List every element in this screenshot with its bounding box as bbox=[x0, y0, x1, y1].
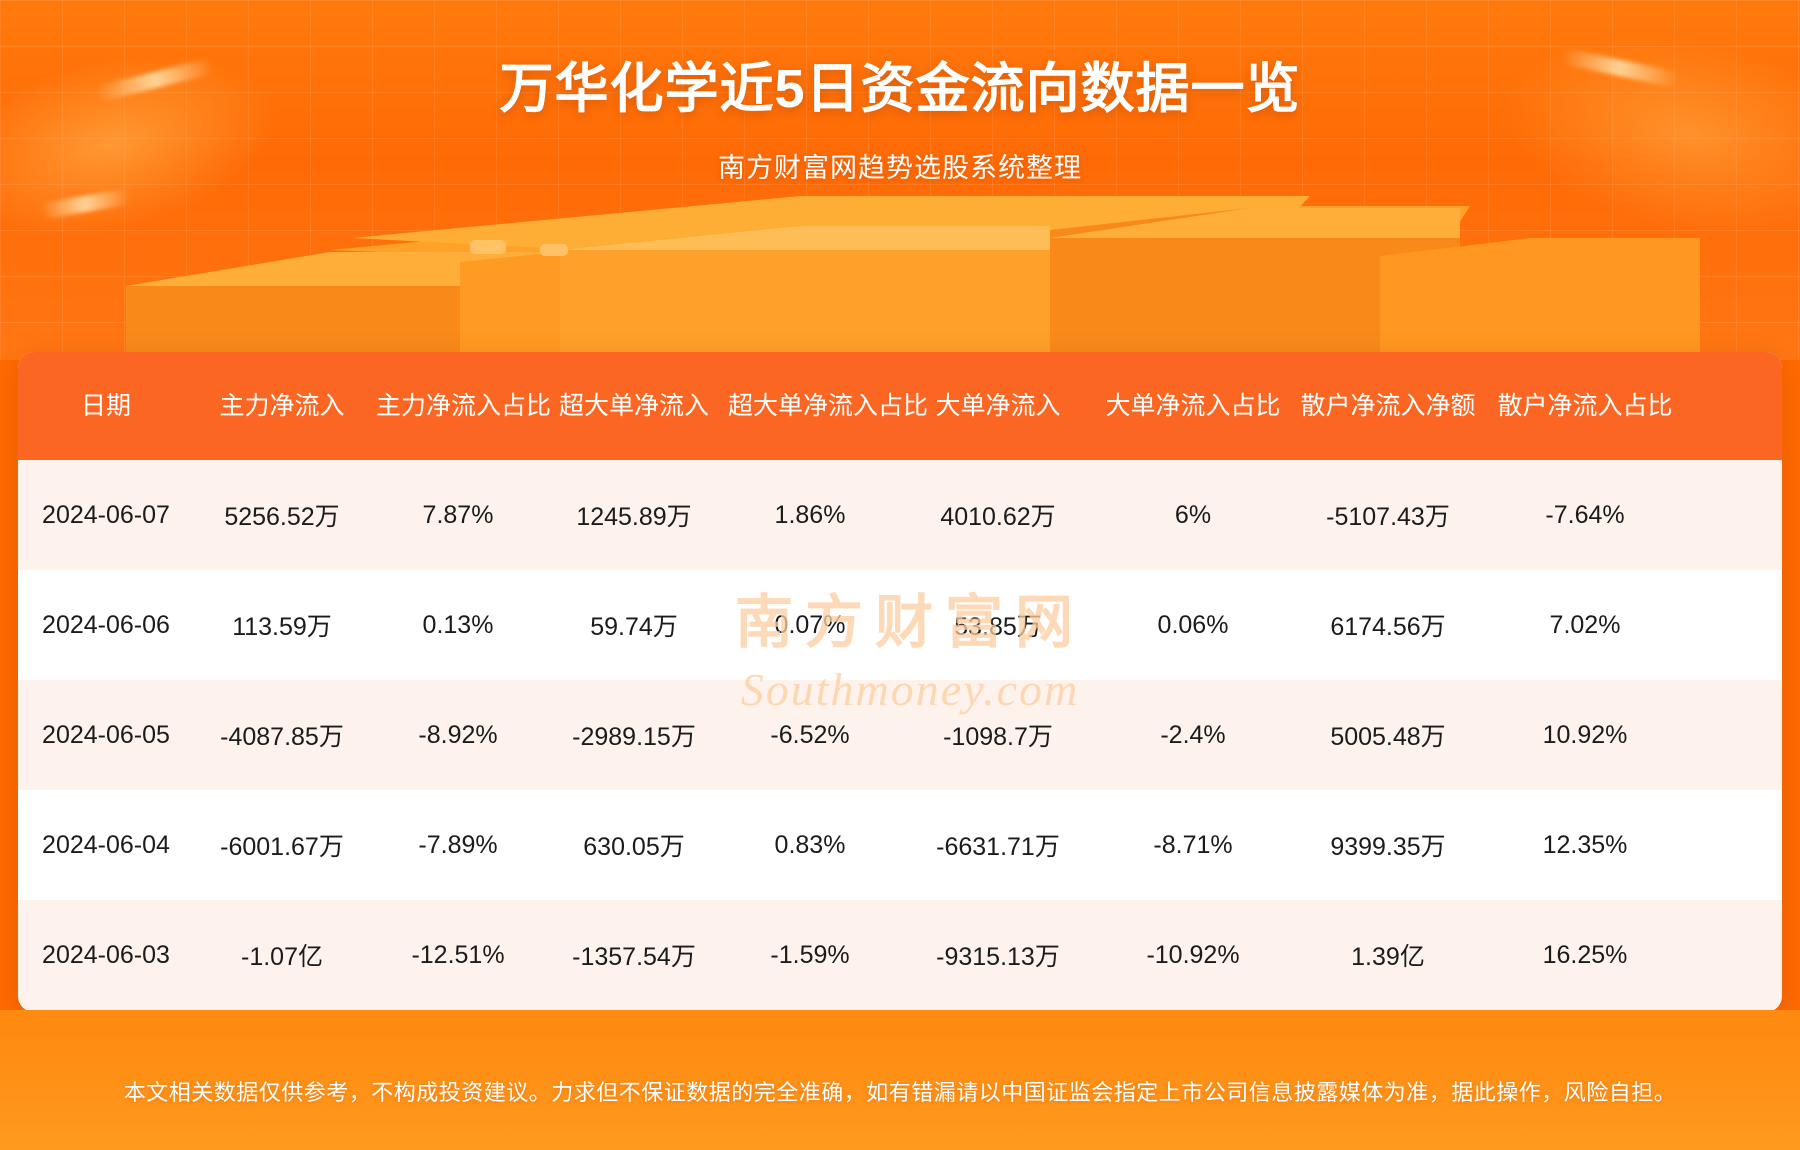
cell-retail-net: 1.39亿 bbox=[1288, 937, 1488, 973]
page-subtitle: 南方财富网趋势选股系统整理 bbox=[0, 146, 1800, 185]
cell-date: 2024-06-06 bbox=[18, 611, 194, 640]
podium-graphic bbox=[0, 190, 1800, 360]
cell-retail-pct: 12.35% bbox=[1488, 831, 1682, 860]
column-header-retail-pct: 散户净流入占比 bbox=[1488, 392, 1682, 421]
cell-retail-pct: 16.25% bbox=[1488, 941, 1682, 970]
cell-main-pct: -12.51% bbox=[370, 941, 546, 970]
cell-lg-pct: 6% bbox=[1098, 501, 1288, 530]
cell-main-pct: -8.92% bbox=[370, 721, 546, 750]
cell-main-net: 5256.52万 bbox=[194, 497, 370, 533]
column-header-date: 日期 bbox=[18, 392, 194, 421]
cell-lg-pct: 0.06% bbox=[1098, 611, 1288, 640]
cell-lg-net: 4010.62万 bbox=[898, 497, 1098, 533]
cell-lg-pct: -10.92% bbox=[1098, 941, 1288, 970]
cell-lg-net: -6631.71万 bbox=[898, 827, 1098, 863]
cell-main-pct: 0.13% bbox=[370, 611, 546, 640]
cell-date: 2024-06-04 bbox=[18, 831, 194, 860]
cell-main-pct: -7.89% bbox=[370, 831, 546, 860]
data-table-card: 日期 主力净流入 主力净流入占比 超大单净流入 超大单净流入占比 大单净流入 大… bbox=[18, 352, 1782, 1012]
cell-main-net: 113.59万 bbox=[194, 607, 370, 643]
cell-xl-pct: 0.07% bbox=[722, 611, 898, 640]
cell-lg-pct: -2.4% bbox=[1098, 721, 1288, 750]
table-header-row: 日期 主力净流入 主力净流入占比 超大单净流入 超大单净流入占比 大单净流入 大… bbox=[18, 352, 1782, 460]
disclaimer-text: 本文相关数据仅供参考，不构成投资建议。力求但不保证数据的完全准确，如有错漏请以中… bbox=[124, 1075, 1677, 1107]
page-title: 万华化学近5日资金流向数据一览 bbox=[0, 44, 1800, 123]
cell-xl-pct: -6.52% bbox=[722, 721, 898, 750]
cell-lg-net: 53.85万 bbox=[898, 607, 1098, 643]
cell-retail-net: 5005.48万 bbox=[1288, 717, 1488, 753]
cell-lg-net: -1098.7万 bbox=[898, 717, 1098, 753]
cell-xl-pct: 1.86% bbox=[722, 501, 898, 530]
cell-date: 2024-06-03 bbox=[18, 941, 194, 970]
table-row: 2024-06-03 -1.07亿 -12.51% -1357.54万 -1.5… bbox=[18, 900, 1782, 1010]
table-row: 2024-06-07 5256.52万 7.87% 1245.89万 1.86%… bbox=[18, 460, 1782, 570]
column-header-retail-net: 散户净流入净额 bbox=[1288, 392, 1488, 421]
hero-banner: 万华化学近5日资金流向数据一览 南方财富网趋势选股系统整理 bbox=[0, 0, 1800, 360]
footer-spacer bbox=[0, 1010, 1800, 1032]
cell-xl-net: 630.05万 bbox=[546, 827, 722, 863]
cell-main-pct: 7.87% bbox=[370, 501, 546, 530]
cell-main-net: -4087.85万 bbox=[194, 717, 370, 753]
column-header-main-pct: 主力净流入占比 bbox=[370, 392, 546, 421]
cell-xl-net: -1357.54万 bbox=[546, 937, 722, 973]
cell-xl-net: 59.74万 bbox=[546, 607, 722, 643]
table-row: 2024-06-04 -6001.67万 -7.89% 630.05万 0.83… bbox=[18, 790, 1782, 900]
column-header-extra-large-net: 超大单净流入 bbox=[546, 392, 722, 421]
cell-main-net: -6001.67万 bbox=[194, 827, 370, 863]
column-header-main-net: 主力净流入 bbox=[194, 392, 370, 421]
cell-retail-pct: 7.02% bbox=[1488, 611, 1682, 640]
cell-date: 2024-06-05 bbox=[18, 721, 194, 750]
table-row: 2024-06-06 113.59万 0.13% 59.74万 0.07% 53… bbox=[18, 570, 1782, 680]
cell-date: 2024-06-07 bbox=[18, 501, 194, 530]
cell-retail-net: -5107.43万 bbox=[1288, 497, 1488, 533]
cell-xl-net: -2989.15万 bbox=[546, 717, 722, 753]
cell-retail-pct: 10.92% bbox=[1488, 721, 1682, 750]
column-header-large-pct: 大单净流入占比 bbox=[1098, 392, 1288, 421]
cell-retail-pct: -7.64% bbox=[1488, 501, 1682, 530]
cell-xl-pct: -1.59% bbox=[722, 941, 898, 970]
cell-retail-net: 6174.56万 bbox=[1288, 607, 1488, 643]
cell-main-net: -1.07亿 bbox=[194, 937, 370, 973]
cell-xl-net: 1245.89万 bbox=[546, 497, 722, 533]
footer-bar: 本文相关数据仅供参考，不构成投资建议。力求但不保证数据的完全准确，如有错漏请以中… bbox=[0, 1032, 1800, 1150]
column-header-extra-large-pct: 超大单净流入占比 bbox=[722, 392, 898, 421]
cell-lg-net: -9315.13万 bbox=[898, 937, 1098, 973]
cell-retail-net: 9399.35万 bbox=[1288, 827, 1488, 863]
cell-lg-pct: -8.71% bbox=[1098, 831, 1288, 860]
cell-xl-pct: 0.83% bbox=[722, 831, 898, 860]
column-header-large-net: 大单净流入 bbox=[898, 392, 1098, 421]
table-row: 2024-06-05 -4087.85万 -8.92% -2989.15万 -6… bbox=[18, 680, 1782, 790]
